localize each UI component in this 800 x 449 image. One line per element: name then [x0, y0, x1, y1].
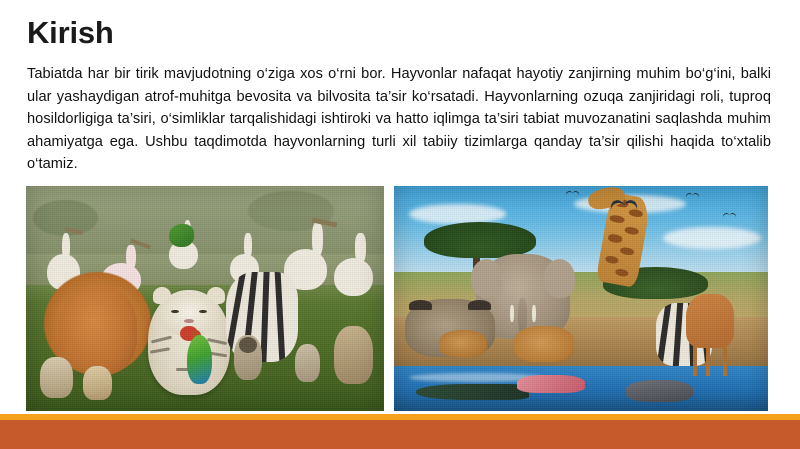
- left-photo-white-tiger: [148, 290, 230, 396]
- left-photo-monkey-2: [295, 344, 320, 382]
- left-photo-stork-1-neck: [62, 233, 71, 260]
- body-paragraph: Tabiatda har bir tirik mavjudotning o‘zi…: [27, 63, 771, 176]
- left-photo-tiger-eye-right: [199, 310, 207, 313]
- right-photo-giraffe-spot-4: [624, 226, 639, 236]
- right-photo-lion-2: [439, 330, 488, 357]
- left-photo-pelican-1-neck: [312, 222, 323, 256]
- left-photo-monkey-1-face: [239, 337, 257, 353]
- right-photo-lion-1: [514, 326, 574, 362]
- right-photo-antelope-leg-2: [706, 346, 710, 376]
- right-photo-antelope-leg-1: [693, 346, 697, 376]
- left-photo-canvas: [26, 186, 384, 411]
- left-photo-egret-neck: [244, 233, 252, 258]
- body-paragraph-text: Tabiatda har bir tirik mavjudotning o‘zi…: [27, 66, 771, 172]
- right-photo-giraffe-spot-8: [615, 268, 629, 277]
- page-title: Kirish: [27, 14, 114, 52]
- right-photo-elephant-tusk-right: [532, 305, 536, 322]
- left-photo-tiger-stripe-2: [150, 347, 170, 354]
- left-photo-zebra-stripe-4: [274, 272, 284, 362]
- right-photo-giraffe-spot-6: [620, 247, 635, 257]
- right-photo-elephant-ear-right: [544, 259, 576, 298]
- right-photo-flamingo-group: [517, 375, 584, 393]
- left-photo-pelican-2: [334, 258, 373, 296]
- right-photo-antelope: [686, 294, 735, 348]
- right-photo-elephant-tusk-left: [510, 305, 514, 322]
- right-photo-flying-bird-1: [611, 200, 637, 214]
- right-photo-cloud-3: [663, 227, 760, 250]
- left-photo-deer: [334, 326, 373, 385]
- left-photo-tiger-eye-left: [171, 310, 179, 313]
- right-photo-giraffe-spot-7: [605, 255, 619, 264]
- left-photo-tiger-stripe-3: [207, 338, 227, 345]
- left-photo-tiger-nose: [184, 319, 193, 323]
- left-photo-goat: [40, 357, 72, 398]
- left-photo-tiger-stripe-1: [151, 336, 173, 344]
- left-photo-green-bird: [169, 224, 194, 247]
- right-photo-hippo: [626, 380, 693, 403]
- right-photo-zebra-stripe-2: [673, 303, 683, 366]
- left-photo-small-cat: [83, 366, 112, 400]
- left-photo-pelican-2-neck: [355, 233, 366, 262]
- right-photo-buffalo-horn-left: [409, 300, 432, 311]
- left-photo-zebra-stripe-3: [261, 272, 270, 362]
- right-photo-giraffe-spot-5: [608, 234, 623, 244]
- left-photo-macaw: [187, 335, 212, 385]
- left-photo-spoonbill-1-neck: [126, 245, 135, 270]
- left-photo-tiger-stripe-4: [209, 352, 227, 358]
- right-photo-elephant-ear-left: [471, 259, 503, 298]
- footer-band: [0, 420, 800, 449]
- right-photo-crocodile: [416, 384, 528, 400]
- presentation-slide: Kirish Tabiatda har bir tirik mavjudotni…: [0, 0, 800, 449]
- right-photo-antelope-leg-3: [723, 346, 727, 376]
- right-photo-flying-bird-3: [723, 213, 736, 220]
- animal-collage-image-right: [394, 186, 768, 411]
- animal-collage-image-left: [26, 186, 384, 411]
- right-photo-zebra-stripe-1: [657, 303, 671, 366]
- right-photo-flying-bird-4: [566, 191, 579, 198]
- right-photo-acacia-canopy: [424, 222, 536, 258]
- right-photo-canvas: [394, 186, 768, 411]
- image-row: [0, 186, 800, 411]
- right-photo-buffalo-horn-right: [468, 300, 491, 311]
- right-photo-flying-bird-2: [686, 193, 699, 200]
- left-photo-lion: [58, 285, 137, 375]
